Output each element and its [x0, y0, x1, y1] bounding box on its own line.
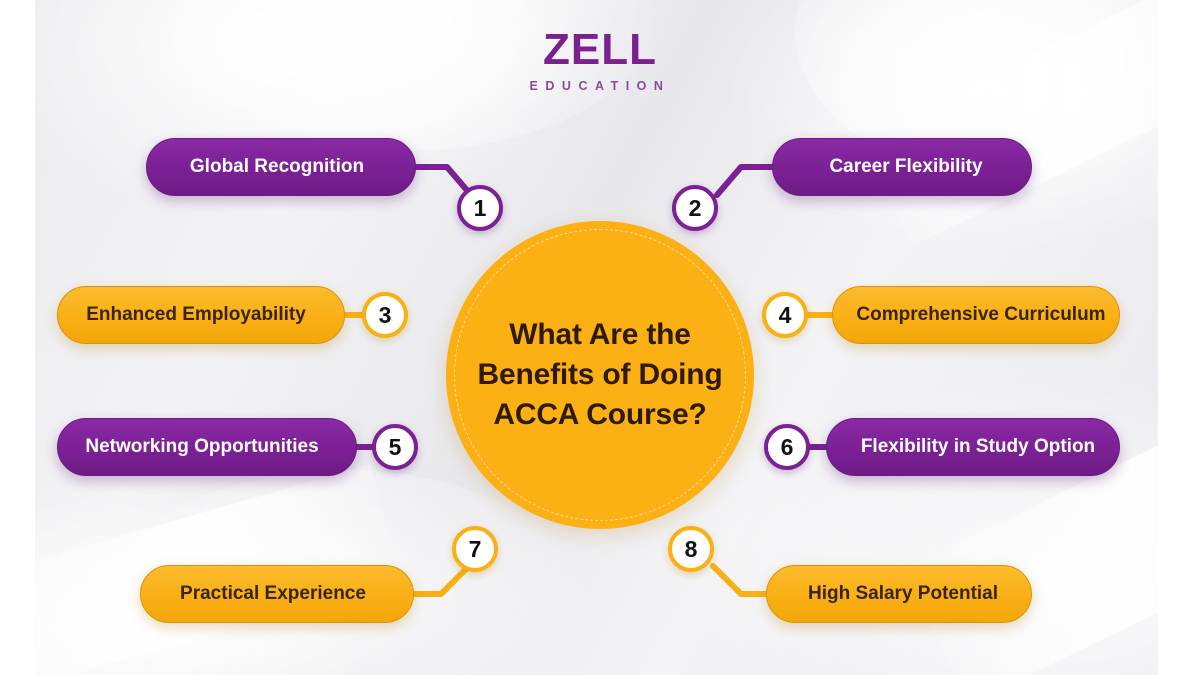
brand-tagline: EDUCATION	[0, 79, 1200, 93]
benefit-number-7: 7	[452, 526, 498, 572]
benefit-number-7-text: 7	[469, 536, 482, 563]
benefit-number-4-text: 4	[779, 302, 792, 329]
benefit-pill-5[interactable]: Networking Opportunities	[57, 418, 357, 476]
benefit-number-3-text: 3	[379, 302, 392, 329]
benefit-pill-7[interactable]: Practical Experience	[140, 565, 414, 623]
benefit-number-3: 3	[362, 292, 408, 338]
benefit-pill-1[interactable]: Global Recognition	[146, 138, 416, 196]
benefit-number-5-text: 5	[389, 434, 402, 461]
brand-logo: ZELL EDUCATION	[0, 28, 1200, 93]
benefit-label-4: Comprehensive Curriculum	[833, 304, 1119, 326]
benefit-label-6: Flexibility in Study Option	[827, 436, 1119, 458]
benefit-number-6: 6	[764, 424, 810, 470]
benefit-number-2-text: 2	[689, 195, 702, 222]
benefit-label-5: Networking Opportunities	[58, 436, 356, 458]
infographic-canvas: ZELL EDUCATION What Are the Benefits of …	[0, 0, 1200, 675]
benefit-number-2: 2	[672, 185, 718, 231]
benefit-pill-4[interactable]: Comprehensive Curriculum	[832, 286, 1120, 344]
benefit-number-1-text: 1	[474, 195, 487, 222]
benefit-label-8: High Salary Potential	[767, 583, 1031, 605]
benefit-pill-8[interactable]: High Salary Potential	[766, 565, 1032, 623]
benefit-number-1: 1	[457, 185, 503, 231]
benefit-label-2: Career Flexibility	[773, 156, 1031, 178]
benefit-number-8: 8	[668, 526, 714, 572]
benefit-label-1: Global Recognition	[147, 156, 415, 178]
benefit-label-3: Enhanced Employability	[58, 304, 344, 326]
brand-name: ZELL	[543, 28, 657, 72]
benefit-number-8-text: 8	[685, 536, 698, 563]
benefit-number-6-text: 6	[781, 434, 794, 461]
benefit-pill-2[interactable]: Career Flexibility	[772, 138, 1032, 196]
benefit-pill-6[interactable]: Flexibility in Study Option	[826, 418, 1120, 476]
benefit-number-5: 5	[372, 424, 418, 470]
benefit-pill-3[interactable]: Enhanced Employability	[57, 286, 345, 344]
benefit-label-7: Practical Experience	[141, 583, 413, 605]
benefit-number-4: 4	[762, 292, 808, 338]
